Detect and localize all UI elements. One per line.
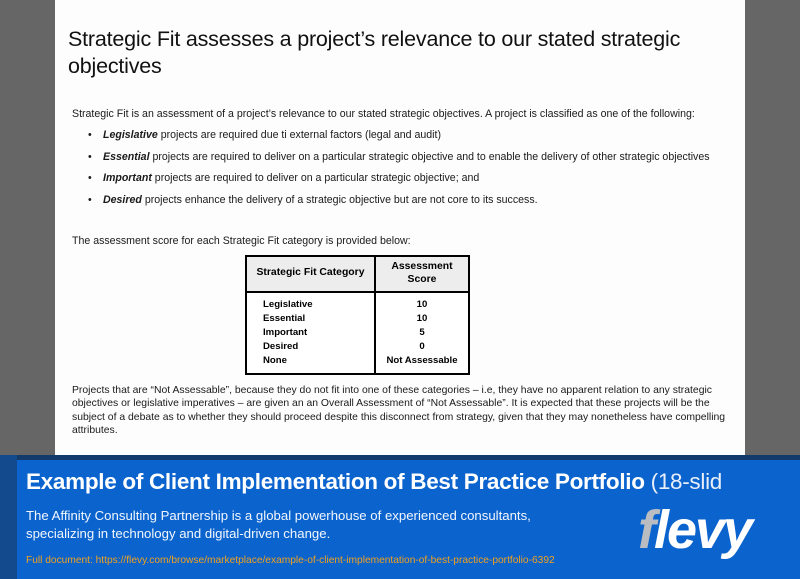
list-item: •Desired projects enhance the delivery o… xyxy=(72,194,732,207)
list-item: •Legislative projects are required due t… xyxy=(72,129,732,142)
list-item: •Important projects are required to deli… xyxy=(72,172,732,185)
footer-document-url[interactable]: Full document: https://flevy.com/browse/… xyxy=(26,554,555,568)
cell-score: 10 xyxy=(375,312,469,326)
bullet-term: Legislative xyxy=(103,129,158,141)
cell-score: Not Assessable xyxy=(375,354,469,374)
intro-paragraph: Strategic Fit is an assessment of a proj… xyxy=(72,108,732,121)
cell-score: 10 xyxy=(375,292,469,312)
table-header-row: Strategic Fit Category Assessment Score xyxy=(246,256,469,292)
bullet-text: projects are required due ti external fa… xyxy=(158,129,441,141)
footer-left-rule xyxy=(0,455,17,579)
cell-category: Essential xyxy=(246,312,375,326)
column-header-score: Assessment Score xyxy=(375,256,469,292)
promo-footer-banner: Example of Client Implementation of Best… xyxy=(0,455,800,579)
page-title: Strategic Fit assesses a project’s relev… xyxy=(68,26,728,80)
closing-paragraph-block: Projects that are “Not Assessable”, beca… xyxy=(72,384,732,438)
cell-category: Desired xyxy=(246,340,375,354)
flevy-logo-levy: levy xyxy=(654,500,751,560)
bullet-term: Desired xyxy=(103,194,142,206)
table-row: None Not Assessable xyxy=(246,354,469,374)
bullet-dot-icon: • xyxy=(88,172,92,185)
classification-bullet-list: •Legislative projects are required due t… xyxy=(72,129,732,216)
bullet-term: Essential xyxy=(103,151,150,163)
footer-subtitle: The Affinity Consulting Partnership is a… xyxy=(26,507,586,542)
cell-category: None xyxy=(246,354,375,374)
flevy-logo-f: f xyxy=(638,500,654,560)
bullet-dot-icon: • xyxy=(88,151,92,164)
bullet-dot-icon: • xyxy=(88,194,92,207)
table-row: Important 5 xyxy=(246,326,469,340)
footer-title-text: Example of Client Implementation of Best… xyxy=(26,469,651,494)
assessment-score-table: Strategic Fit Category Assessment Score … xyxy=(245,255,470,375)
table-row: Legislative 10 xyxy=(246,292,469,312)
flevy-logo: flevy xyxy=(638,503,751,557)
table-row: Desired 0 xyxy=(246,340,469,354)
bullet-text: projects are required to deliver on a pa… xyxy=(150,151,710,163)
table-header: Strategic Fit Category Assessment Score xyxy=(246,256,469,292)
table-intro-paragraph: The assessment score for each Strategic … xyxy=(72,235,732,248)
list-item: •Essential projects are required to deli… xyxy=(72,151,732,164)
bullet-text: projects are required to deliver on a pa… xyxy=(152,172,479,184)
footer-document-title: Example of Client Implementation of Best… xyxy=(26,468,800,496)
bullet-text: projects enhance the delivery of a strat… xyxy=(142,194,538,206)
bullet-term: Important xyxy=(103,172,152,184)
cell-category: Legislative xyxy=(246,292,375,312)
bullet-dot-icon: • xyxy=(88,129,92,142)
footer-slide-count: (18-slid xyxy=(651,469,722,494)
cell-score: 5 xyxy=(375,326,469,340)
column-header-category: Strategic Fit Category xyxy=(246,256,375,292)
table-body: Legislative 10 Essential 10 Important 5 … xyxy=(246,292,469,374)
closing-paragraph: Projects that are “Not Assessable”, beca… xyxy=(72,384,732,438)
footer-top-rule xyxy=(0,455,800,460)
cell-score: 0 xyxy=(375,340,469,354)
slide-sheet: Strategic Fit assesses a project’s relev… xyxy=(55,0,745,455)
table-row: Essential 10 xyxy=(246,312,469,326)
cell-category: Important xyxy=(246,326,375,340)
